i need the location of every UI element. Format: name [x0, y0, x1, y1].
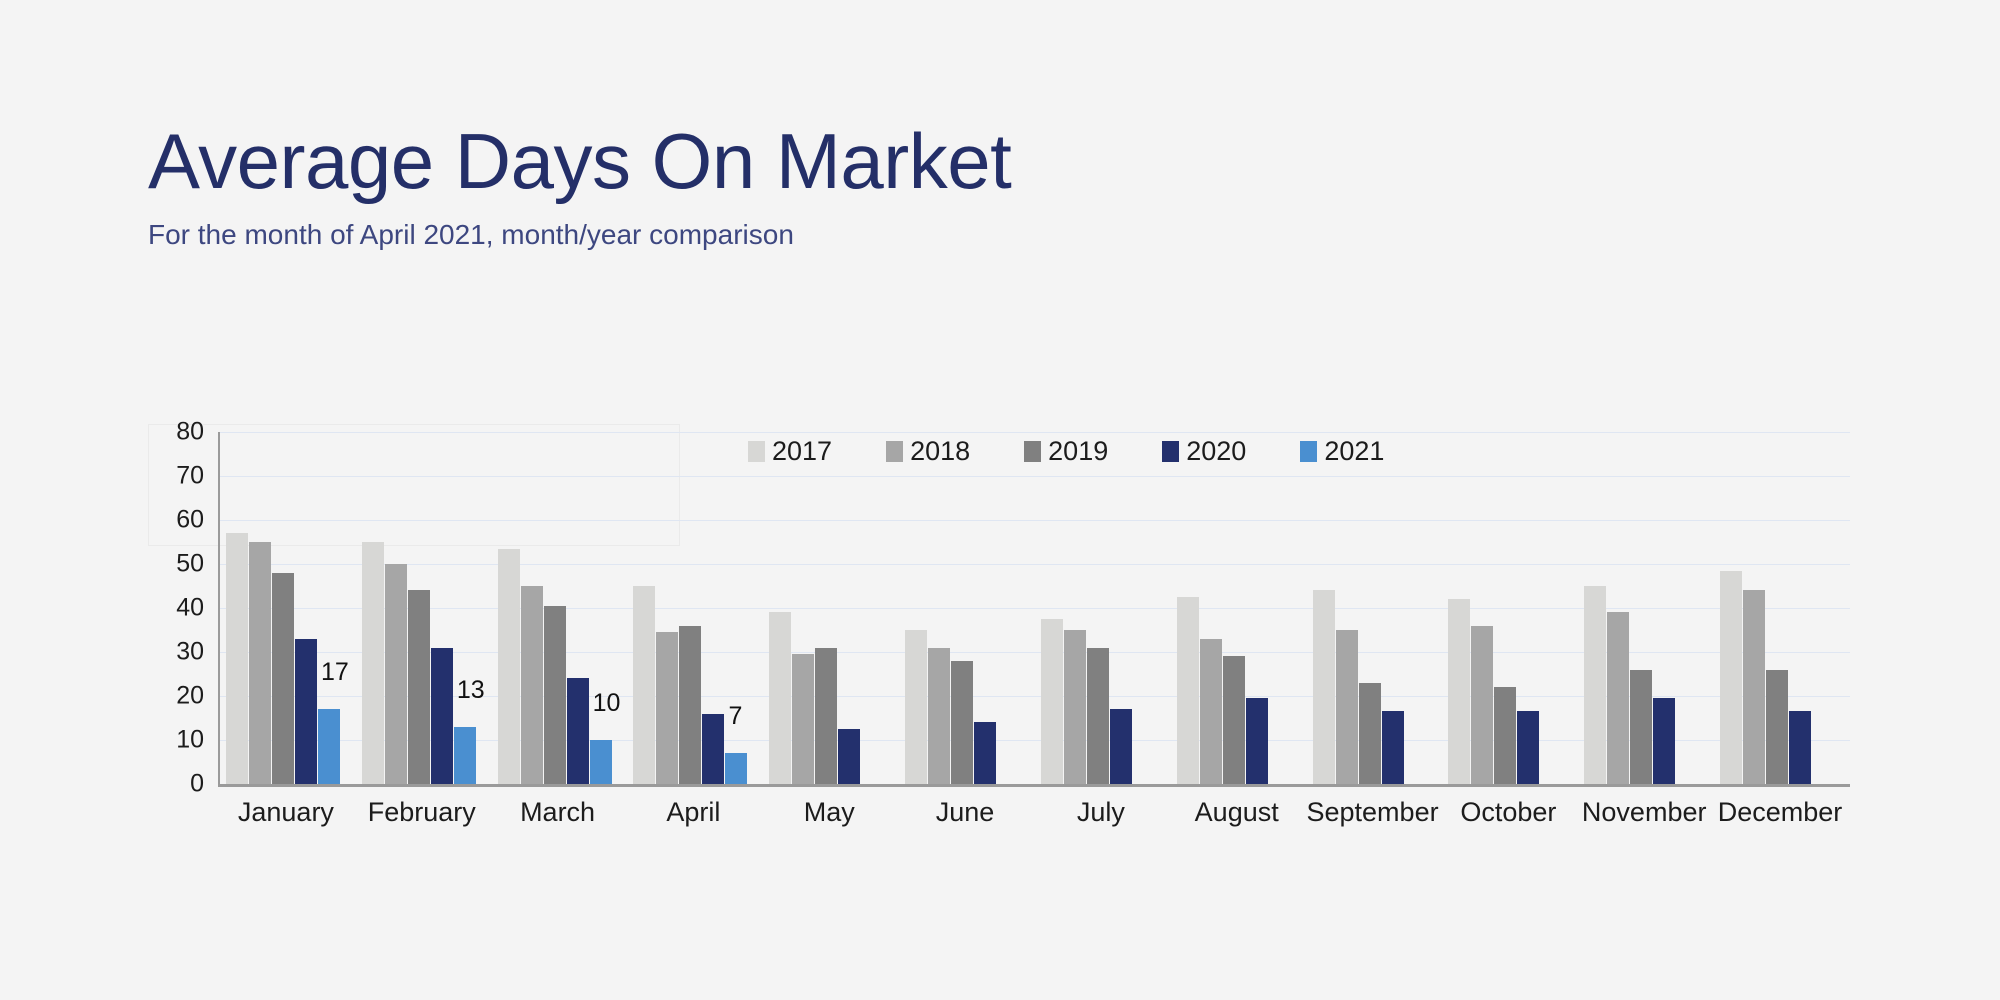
- bar-2019-august[interactable]: [1223, 656, 1245, 784]
- bar-2020-april[interactable]: [702, 714, 724, 784]
- legend-label: 2021: [1324, 438, 1384, 465]
- bar-2019-october[interactable]: [1494, 687, 1516, 784]
- bar-2017-may[interactable]: [769, 612, 791, 784]
- legend-label: 2020: [1186, 438, 1246, 465]
- bar-2019-june[interactable]: [951, 661, 973, 784]
- bar-2020-december[interactable]: [1789, 711, 1811, 784]
- bar-2017-october[interactable]: [1448, 599, 1470, 784]
- bar-group: [1442, 432, 1578, 784]
- bar-2017-july[interactable]: [1041, 619, 1063, 784]
- x-axis-tick-november: November: [1576, 796, 1712, 828]
- page-subtitle: For the month of April 2021, month/year …: [148, 218, 1848, 252]
- slide-canvas: Average Days On Market For the month of …: [0, 0, 2000, 1000]
- x-axis-tick-september: September: [1305, 796, 1441, 828]
- bar-data-label: 10: [593, 691, 621, 716]
- legend-item-2020[interactable]: 2020: [1162, 438, 1246, 465]
- bar-group: 13: [356, 432, 492, 784]
- bar-group: [899, 432, 1035, 784]
- bar-2018-november[interactable]: [1607, 612, 1629, 784]
- x-axis-tick-august: August: [1169, 796, 1305, 828]
- bar-2021-february[interactable]: [454, 727, 476, 784]
- bar-2018-april[interactable]: [656, 632, 678, 784]
- bar-2019-december[interactable]: [1766, 670, 1788, 784]
- bar-2018-october[interactable]: [1471, 626, 1493, 784]
- y-axis-tick: 50: [148, 552, 204, 577]
- bar-group: [1035, 432, 1171, 784]
- x-axis-tick-april: April: [625, 796, 761, 828]
- x-axis-tick-may: May: [761, 796, 897, 828]
- bar-2019-march[interactable]: [544, 606, 566, 784]
- y-axis-tick: 70: [148, 464, 204, 489]
- bar-group: 17: [220, 432, 356, 784]
- bar-2020-may[interactable]: [838, 729, 860, 784]
- bar-group: [1714, 432, 1850, 784]
- bar-2017-april[interactable]: [633, 586, 655, 784]
- x-axis-tick-january: January: [218, 796, 354, 828]
- bar-2020-july[interactable]: [1110, 709, 1132, 784]
- bar-2018-august[interactable]: [1200, 639, 1222, 784]
- bar-2017-august[interactable]: [1177, 597, 1199, 784]
- bar-data-label: 17: [321, 660, 349, 685]
- bar-2017-september[interactable]: [1313, 590, 1335, 784]
- bar-data-label: 13: [457, 678, 485, 703]
- legend-item-2018[interactable]: 2018: [886, 438, 970, 465]
- bar-2020-february[interactable]: [431, 648, 453, 784]
- legend-swatch-icon: [748, 441, 765, 462]
- bar-2021-april[interactable]: [725, 753, 747, 784]
- legend-swatch-icon: [1300, 441, 1317, 462]
- legend-swatch-icon: [1024, 441, 1041, 462]
- chart-header: Average Days On Market For the month of …: [148, 118, 1848, 252]
- legend-item-2021[interactable]: 2021: [1300, 438, 1384, 465]
- y-axis-tick: 60: [148, 508, 204, 533]
- bar-2020-september[interactable]: [1382, 711, 1404, 784]
- bar-2021-march[interactable]: [590, 740, 612, 784]
- bar-group: [1171, 432, 1307, 784]
- bar-2018-september[interactable]: [1336, 630, 1358, 784]
- y-axis-tick: 40: [148, 596, 204, 621]
- y-axis-tick: 30: [148, 640, 204, 665]
- legend-item-2017[interactable]: 2017: [748, 438, 832, 465]
- bar-2017-november[interactable]: [1584, 586, 1606, 784]
- bar-2020-october[interactable]: [1517, 711, 1539, 784]
- bar-2019-september[interactable]: [1359, 683, 1381, 784]
- x-axis-tick-february: February: [354, 796, 490, 828]
- x-axis-tick-march: March: [490, 796, 626, 828]
- bar-2018-february[interactable]: [385, 564, 407, 784]
- bar-2017-february[interactable]: [362, 542, 384, 784]
- bar-2019-april[interactable]: [679, 626, 701, 784]
- bar-2019-february[interactable]: [408, 590, 430, 784]
- bar-2019-november[interactable]: [1630, 670, 1652, 784]
- legend-swatch-icon: [1162, 441, 1179, 462]
- page-title: Average Days On Market: [148, 118, 1848, 204]
- legend-item-2019[interactable]: 2019: [1024, 438, 1108, 465]
- legend-label: 2018: [910, 438, 970, 465]
- bar-data-label: 7: [728, 704, 742, 729]
- bar-2018-july[interactable]: [1064, 630, 1086, 784]
- chart-legend: 20172018201920202021: [748, 438, 1384, 465]
- bar-2017-december[interactable]: [1720, 571, 1742, 784]
- bar-2018-june[interactable]: [928, 648, 950, 784]
- bar-chart: 80706050403020100 1713107 JanuaryFebruar…: [148, 424, 1848, 844]
- legend-label: 2019: [1048, 438, 1108, 465]
- y-axis-tick: 20: [148, 684, 204, 709]
- y-axis-tick: 10: [148, 728, 204, 753]
- legend-swatch-icon: [886, 441, 903, 462]
- bar-2020-january[interactable]: [295, 639, 317, 784]
- bar-2017-january[interactable]: [226, 533, 248, 784]
- bar-group: [1578, 432, 1714, 784]
- y-axis-tick: 0: [148, 772, 204, 797]
- bar-2017-june[interactable]: [905, 630, 927, 784]
- bar-2020-march[interactable]: [567, 678, 589, 784]
- bar-2018-march[interactable]: [521, 586, 543, 784]
- x-axis-tick-october: October: [1440, 796, 1576, 828]
- bar-2021-january[interactable]: [318, 709, 340, 784]
- bar-group: 7: [627, 432, 763, 784]
- x-axis-tick-july: July: [1033, 796, 1169, 828]
- bars-layer: 1713107: [220, 432, 1850, 784]
- bar-group: 10: [492, 432, 628, 784]
- bar-group: [1307, 432, 1443, 784]
- y-axis: 80706050403020100: [148, 432, 204, 784]
- bar-2017-march[interactable]: [498, 549, 520, 784]
- bar-2018-january[interactable]: [249, 542, 271, 784]
- bar-2020-november[interactable]: [1653, 698, 1675, 784]
- legend-label: 2017: [772, 438, 832, 465]
- x-axis: JanuaryFebruaryMarchAprilMayJuneJulyAugu…: [218, 796, 1848, 828]
- x-axis-tick-december: December: [1712, 796, 1848, 828]
- bar-2018-may[interactable]: [792, 654, 814, 784]
- y-axis-tick: 80: [148, 420, 204, 445]
- bar-group: [763, 432, 899, 784]
- bar-2019-july[interactable]: [1087, 648, 1109, 784]
- bar-2020-june[interactable]: [974, 722, 996, 784]
- bar-2019-may[interactable]: [815, 648, 837, 784]
- bar-2020-august[interactable]: [1246, 698, 1268, 784]
- plot-area: 1713107: [218, 432, 1850, 787]
- x-axis-tick-june: June: [897, 796, 1033, 828]
- bar-2018-december[interactable]: [1743, 590, 1765, 784]
- bar-2019-january[interactable]: [272, 573, 294, 784]
